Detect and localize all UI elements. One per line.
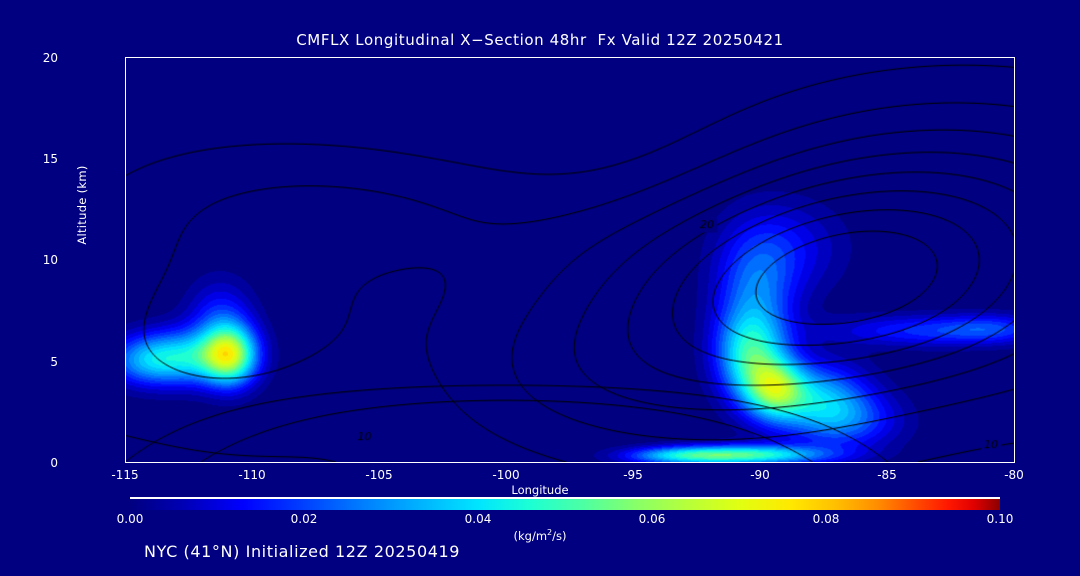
y-tick-0: 0 xyxy=(0,456,58,470)
x-tick--115: -115 xyxy=(85,468,165,482)
x-tick--100: -100 xyxy=(466,468,546,482)
page-title: CMFLX Longitudinal X−Section 48hr Fx Val… xyxy=(0,31,1080,49)
y-axis-label: Altitude (km) xyxy=(75,115,89,295)
y-tick-10: 10 xyxy=(0,253,58,267)
colorbar-tick-3: 0.06 xyxy=(607,512,697,526)
cross-section-plot[interactable] xyxy=(125,57,1015,463)
x-tick--90: -90 xyxy=(720,468,800,482)
colorbar-unit-prefix: (kg/m xyxy=(514,529,548,543)
x-axis-label: Longitude xyxy=(0,483,1080,497)
colorbar-gradient xyxy=(130,499,1000,510)
y-tick-20: 20 xyxy=(0,51,58,65)
colorbar-tick-1: 0.02 xyxy=(259,512,349,526)
colorbar-tick-5: 0.10 xyxy=(955,512,1045,526)
x-tick--105: -105 xyxy=(339,468,419,482)
colorbar[interactable] xyxy=(130,497,1000,510)
y-tick-15: 15 xyxy=(0,152,58,166)
colorbar-unit-label: (kg/m2/s) xyxy=(0,528,1080,543)
footer-caption: NYC (41°N) Initialized 12Z 20250419 xyxy=(144,542,460,561)
colorbar-tick-4: 0.08 xyxy=(781,512,871,526)
colorbar-unit-suffix: /s) xyxy=(552,529,566,543)
x-tick--95: -95 xyxy=(593,468,673,482)
colorbar-tick-2: 0.04 xyxy=(433,512,523,526)
screenshot-root: CMFLX Longitudinal X−Section 48hr Fx Val… xyxy=(0,0,1080,576)
y-tick-5: 5 xyxy=(0,355,58,369)
x-tick--80: -80 xyxy=(974,468,1054,482)
x-tick--85: -85 xyxy=(847,468,927,482)
x-tick--110: -110 xyxy=(212,468,292,482)
colorbar-tick-0: 0.00 xyxy=(85,512,175,526)
mass-flux-field xyxy=(126,58,1014,462)
